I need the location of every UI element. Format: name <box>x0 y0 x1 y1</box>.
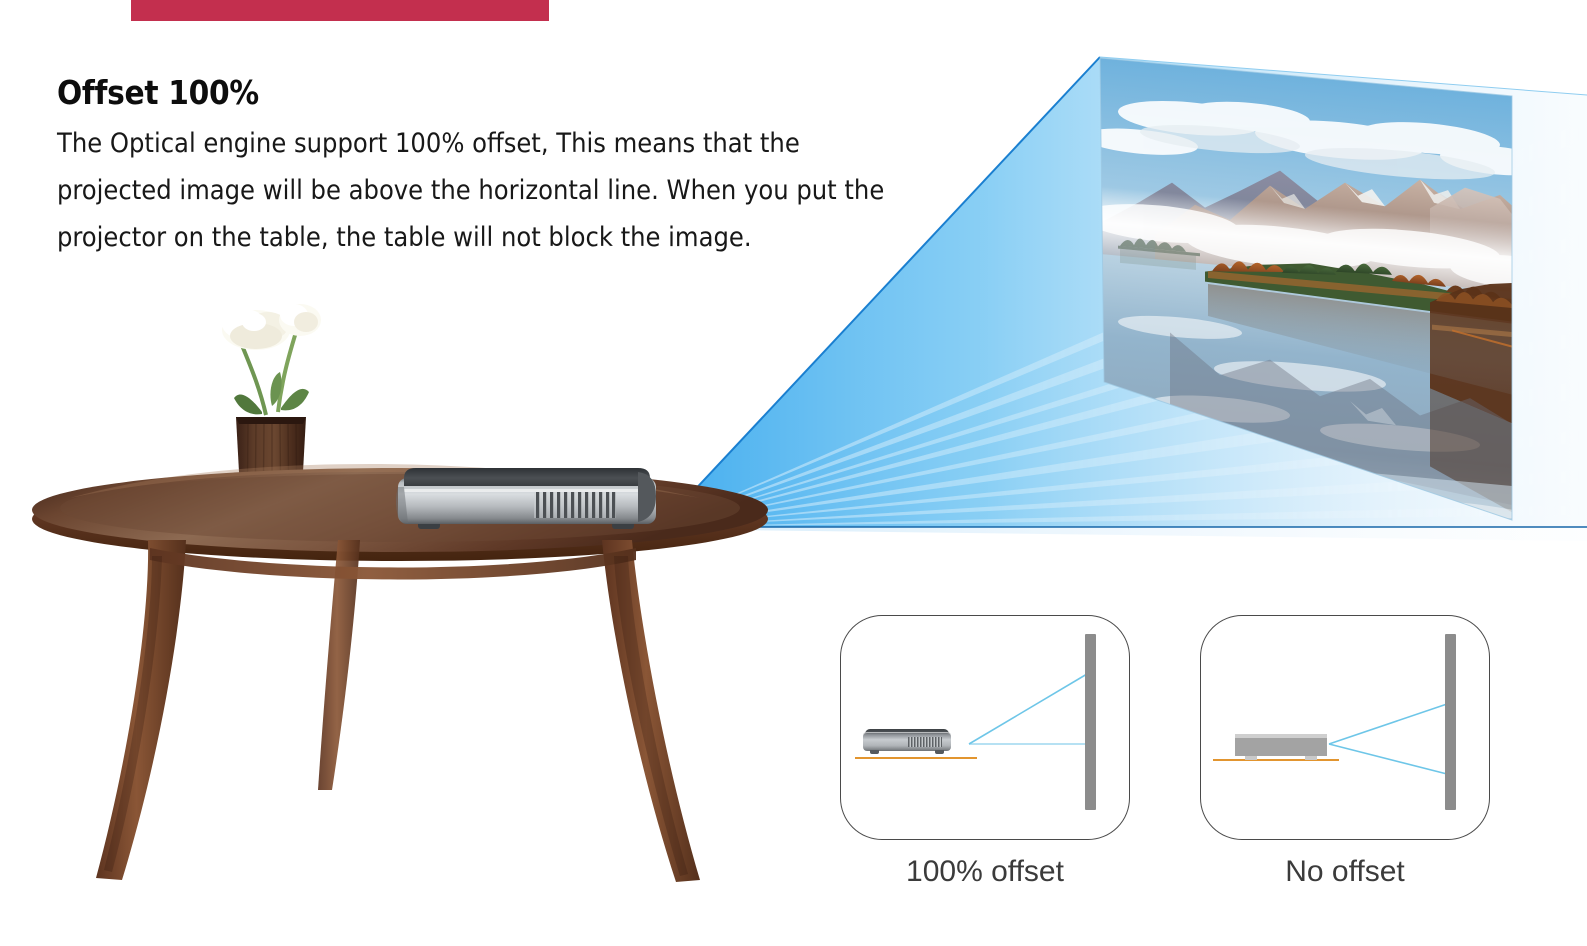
table-legs <box>96 540 700 882</box>
panel-label-no-offset: No offset <box>1200 855 1490 889</box>
projector-foot-left <box>870 750 879 754</box>
slide-canvas: Offset 100% The Optical engine support 1… <box>0 0 1587 941</box>
mini-projector <box>863 728 951 754</box>
ray-upper <box>1329 704 1447 744</box>
table-scene <box>0 0 790 941</box>
table-surface-line <box>1213 759 1339 761</box>
flat-projector-box <box>1235 734 1327 756</box>
ray-upper <box>969 674 1087 744</box>
table-surface-line <box>855 757 977 759</box>
projector-vents <box>908 737 942 747</box>
panel-offset-100 <box>840 615 1130 840</box>
screen-bar <box>1085 634 1096 810</box>
panel-label-offset-100: 100% offset <box>840 855 1130 889</box>
ray-lower <box>1329 744 1447 774</box>
box-top-cap <box>1235 734 1327 738</box>
box-foot-right <box>1305 756 1317 760</box>
box-foot-left <box>1245 756 1257 760</box>
projector <box>396 468 656 529</box>
screen-bar <box>1445 634 1456 810</box>
offset-comparison: 100% offset No offset <box>830 615 1550 915</box>
panel-no-offset <box>1200 615 1490 840</box>
projector-foot-right <box>935 750 944 754</box>
